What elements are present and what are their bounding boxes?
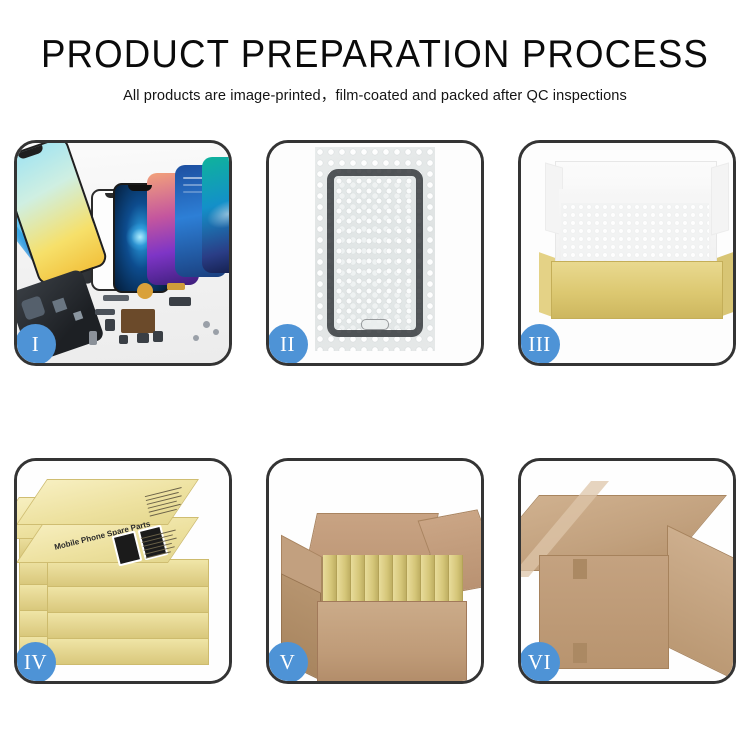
foam-padding — [561, 203, 709, 269]
step-badge-1: I — [15, 324, 56, 365]
step-badge-4: IV — [15, 642, 56, 683]
step-panel-5[interactable]: V — [266, 458, 484, 684]
product-preparation-infographic: PRODUCT PREPARATION PROCESS All products… — [0, 0, 750, 750]
box-front-wall — [551, 261, 723, 319]
step-badge-3: III — [519, 324, 560, 365]
carton-front-wall — [317, 601, 467, 681]
box-stack-right: Mobile Phone Spare Parts — [47, 487, 207, 663]
step-badge-5: V — [267, 642, 308, 683]
box-lid-right — [711, 162, 729, 235]
step-badge-2: II — [267, 324, 308, 365]
step-panel-4[interactable]: Mobile Phone Spare Parts Mobile Phone Sp… — [14, 458, 232, 684]
carton-handle-notch-top — [573, 559, 587, 579]
carton-front-face — [539, 555, 669, 669]
steps-grid: I II III — [0, 0, 750, 750]
step-panel-1[interactable]: I — [14, 140, 232, 366]
step-badge-6: VI — [519, 642, 560, 683]
carton-handle-notch-bottom — [573, 643, 587, 663]
step-panel-6[interactable]: VI — [518, 458, 736, 684]
step-panel-2[interactable]: II — [266, 140, 484, 366]
wrapped-screen — [327, 169, 423, 337]
step-panel-3[interactable]: III — [518, 140, 736, 366]
